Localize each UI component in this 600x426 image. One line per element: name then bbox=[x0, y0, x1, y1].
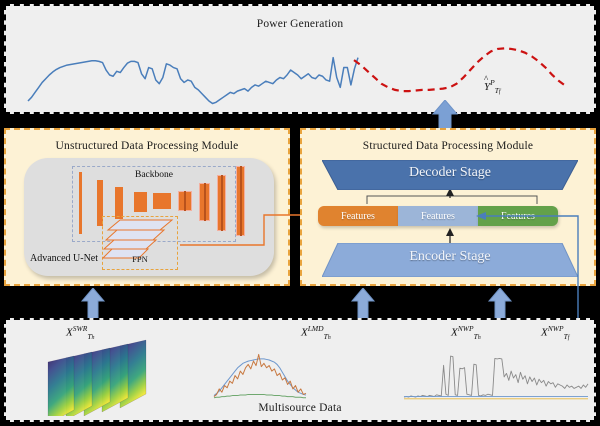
arrow-nwp-history-to-encoder bbox=[487, 288, 513, 320]
input-label-nwp-future: XNWPTf bbox=[541, 324, 569, 341]
swr-sup: SWR bbox=[73, 324, 88, 333]
arrow-swr-to-unstructured bbox=[80, 288, 106, 320]
nwp-h-sup: NWP bbox=[458, 324, 474, 333]
lmd-base: X bbox=[301, 327, 308, 339]
power-generation-chart bbox=[6, 6, 598, 116]
backbone-block-4 bbox=[134, 192, 147, 212]
nwp-f-base: X bbox=[541, 327, 548, 339]
decoder-stage-label: Decoder Stage bbox=[322, 165, 578, 181]
nwp-series-chart bbox=[402, 342, 590, 404]
nwp-f-sup: NWP bbox=[548, 324, 564, 333]
backbone-block-5 bbox=[153, 193, 171, 209]
backbone-block-3 bbox=[115, 187, 123, 219]
y-hat-symbol: Y bbox=[484, 81, 490, 93]
nwp-h-base: X bbox=[451, 327, 458, 339]
features-box-shared-label: Features bbox=[421, 211, 455, 222]
forecast-subscript: Tf bbox=[495, 86, 501, 95]
lmd-sup: LMD bbox=[308, 324, 324, 333]
input-label-lmd: XLMDTh bbox=[301, 324, 331, 341]
multisource-data-panel: Multisource Data XSWRTh bbox=[4, 318, 596, 422]
advanced-unet-label: Advanced U-Net bbox=[30, 253, 98, 264]
swr-base: X bbox=[66, 327, 73, 339]
arrow-lmd-to-encoder bbox=[350, 288, 376, 320]
swr-sub: Th bbox=[87, 332, 94, 341]
structured-module-title: Structured Data Processing Module bbox=[302, 140, 594, 152]
lmd-series-chart bbox=[212, 342, 308, 404]
forecast-output-label: YPTf bbox=[484, 78, 501, 95]
backbone-block-1 bbox=[79, 172, 82, 234]
power-generation-panel: Power Generation YPTf bbox=[4, 4, 596, 114]
features-box-shared[interactable]: Features bbox=[398, 206, 478, 226]
lmd-sub: Th bbox=[324, 332, 331, 341]
features-box-unstructured-label: Features bbox=[341, 211, 375, 222]
nwp-f-sub: Tf bbox=[564, 332, 570, 341]
backbone-label: Backbone bbox=[72, 170, 236, 180]
input-label-nwp-history: XNWPTh bbox=[451, 324, 481, 341]
swr-spectrogram-stack bbox=[42, 338, 178, 416]
nwp-h-sub: Th bbox=[474, 332, 481, 341]
fpn-label: FPN bbox=[102, 254, 178, 264]
figure-root: Power Generation YPTf Unstructured Data … bbox=[0, 0, 600, 426]
features-box-unstructured[interactable]: Features bbox=[318, 206, 398, 226]
decoder-stage: Decoder Stage bbox=[322, 160, 578, 190]
input-label-swr: XSWRTh bbox=[66, 324, 95, 341]
unstructured-module-title: Unstructured Data Processing Module bbox=[6, 140, 288, 152]
